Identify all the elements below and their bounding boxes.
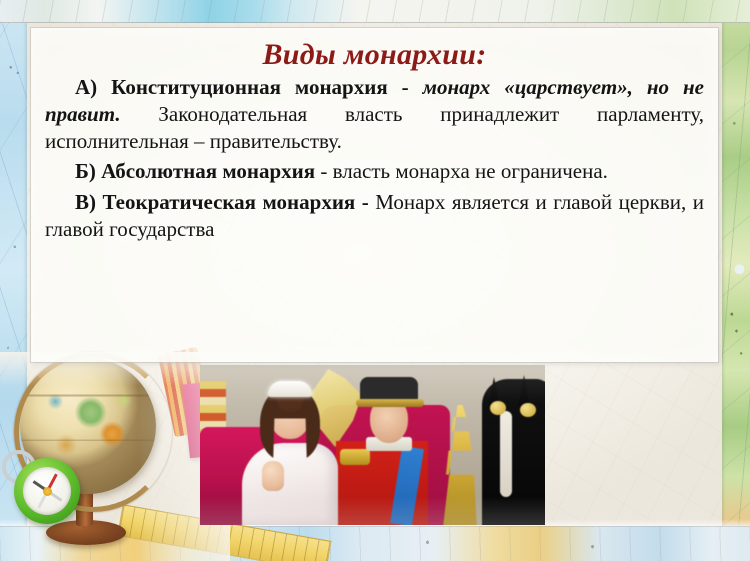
map-border-bottom-marks [0,527,750,561]
slide: Виды монархии: А) Конституционная монарх… [0,0,750,561]
run-a-term: А) Конституционная монархия - [75,75,423,99]
map-border-right-marks [722,0,750,561]
paragraph-constitutional-monarchy: А) Конституционная монархия - монарх «ца… [45,74,704,156]
run-v-term: В) Теократическая монархия - [75,190,369,214]
paragraph-absolute-monarchy: Б) Абсолютная монархия - власть монарха … [45,158,704,185]
map-border-top [0,0,750,23]
content-panel: Виды монархии: А) Конституционная монарх… [31,28,718,362]
map-border-left [0,0,27,561]
content-panel-inner: Виды монархии: А) Конституционная монарх… [31,28,718,243]
run-b-body: - власть монарха не ограничена. [315,159,608,183]
map-border-right [722,0,750,561]
photo-soft-overlay [200,365,545,525]
run-a-body: Законодательная власть принадлежит парла… [45,102,704,153]
royal-wedding-photo [200,365,545,525]
run-b-term: Б) Абсолютная монархия [75,159,315,183]
page-title: Виды монархии: [45,38,704,72]
map-border-left-marks [0,0,27,561]
paragraph-theocratic-monarchy: В) Теократическая монархия - Монарх явля… [45,189,704,244]
map-border-bottom [0,526,750,561]
